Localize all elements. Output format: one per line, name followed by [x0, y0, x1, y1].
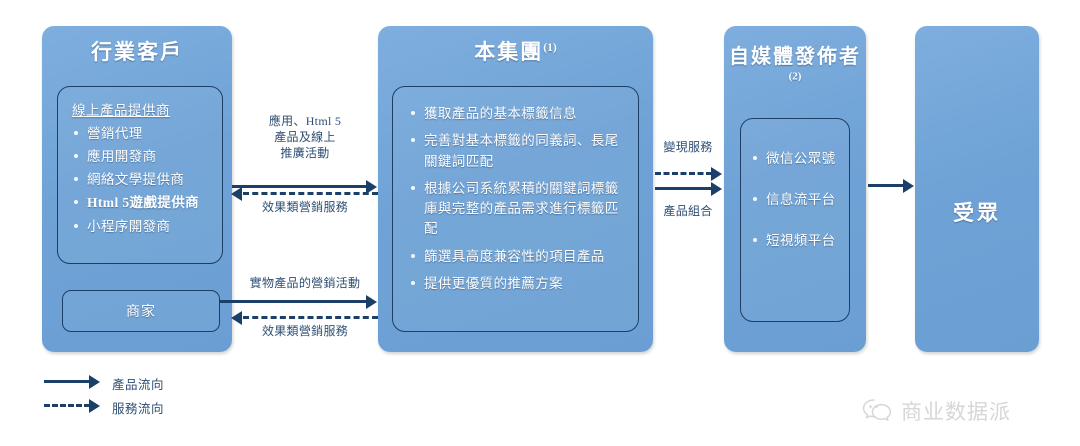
list-item: 根據公司系統累積的關鍵詞標籤庫與完整的產品需求進行標籤匹配: [407, 179, 626, 240]
column-title-footnote: (1): [543, 42, 556, 54]
connector-line-c3-top: [655, 172, 712, 175]
panel-lead-online-product-providers: 線上產品提供商: [72, 99, 212, 119]
list-item: 獲取產品的基本標籤信息: [407, 104, 626, 124]
wechat-icon: [862, 397, 894, 425]
legend-product-flow: 產品流向: [44, 374, 224, 392]
column-label-audience: 受眾: [915, 197, 1039, 227]
panel-online-product-providers: 線上產品提供商 營銷代理 應用開發商 網絡文學提供商 Html 5遊戲提供商 小…: [57, 86, 223, 264]
list-item: 網絡文學提供商: [70, 170, 212, 189]
arrowhead-right-c3-bottom: [711, 182, 722, 196]
list-item: 微信公眾號: [749, 149, 843, 168]
legend-arrowhead-solid: [89, 375, 100, 389]
arrowhead-right-c2-top: [366, 295, 377, 309]
arrowhead-right-c4: [903, 179, 914, 193]
column-title-industry-clients: 行業客戶: [42, 40, 232, 65]
legend-label-product-flow: 產品流向: [112, 374, 164, 393]
column-title-text: 本集團: [474, 40, 543, 64]
list-item: 信息流平台: [749, 190, 843, 209]
column-title-text: 自媒體發佈者: [729, 46, 861, 68]
connector-label-c1-top: 應用、Html 5 產品及線上 推廣活動: [241, 113, 369, 162]
list-item: 提供更優質的推薦方案: [407, 274, 626, 294]
panel-merchants: 商家: [62, 290, 220, 332]
list-item: 營銷代理: [70, 124, 212, 143]
connector-line-c1-top: [232, 185, 367, 188]
list-item: 篩選具高度兼容性的項目產品: [407, 247, 626, 267]
watermark: 商业数据派: [862, 396, 1011, 426]
connector-label-c2-bottom: 效果類營銷服務: [238, 323, 372, 339]
column-audience: 受眾: [915, 26, 1039, 352]
column-title-footnote: (2): [789, 70, 802, 82]
list-item: 完善對基本標籤的同義詞、長尾關鍵詞匹配: [407, 131, 626, 172]
list-item: 應用開發商: [70, 147, 212, 166]
legend-line-dashed: [44, 404, 90, 407]
panel-our-group-capabilities: 獲取產品的基本標籤信息 完善對基本標籤的同義詞、長尾關鍵詞匹配 根據公司系統累積…: [392, 86, 639, 332]
list-item: 小程序開發商: [70, 217, 212, 236]
arrowhead-right-c3-top: [711, 167, 722, 181]
connector-line-c4: [868, 184, 905, 187]
connector-line-c1-bottom: [243, 192, 378, 195]
column-title-self-media-publishers: 自媒體發佈者(2): [724, 46, 866, 93]
list-our-group-capabilities: 獲取產品的基本標籤信息 完善對基本標籤的同義詞、長尾關鍵詞匹配 根據公司系統累積…: [407, 104, 626, 294]
watermark-text: 商业数据派: [901, 396, 1011, 426]
connector-line-c2-top: [220, 300, 367, 303]
list-item: 短視頻平台: [749, 231, 843, 250]
legend-label-service-flow: 服務流向: [112, 398, 164, 417]
connector-label-c1-bottom: 效果類營銷服務: [241, 199, 369, 215]
column-title-our-group: 本集團(1): [378, 40, 653, 65]
legend-line-solid: [44, 380, 90, 383]
connector-label-c2-top: 實物產品的營銷活動: [238, 275, 372, 291]
list-publisher-channels: 微信公眾號 信息流平台 短視頻平台: [749, 149, 843, 250]
panel-publisher-channels: 微信公眾號 信息流平台 短視頻平台: [740, 118, 850, 322]
connector-line-c3-bottom: [655, 187, 712, 190]
legend-arrowhead-dashed: [89, 399, 100, 413]
legend-service-flow: 服務流向: [44, 398, 224, 416]
list-online-product-providers: 營銷代理 應用開發商 網絡文學提供商 Html 5遊戲提供商 小程序開發商: [70, 124, 212, 236]
connector-line-c2-bottom: [243, 316, 378, 319]
diagram-canvas: 行業客戶 線上產品提供商 營銷代理 應用開發商 網絡文學提供商 Html 5遊戲…: [0, 0, 1080, 446]
connector-label-c3-top: 變現服務: [651, 139, 725, 155]
panel-label-merchants: 商家: [126, 301, 156, 321]
list-item: Html 5遊戲提供商: [70, 193, 212, 212]
connector-label-c3-bottom: 產品組合: [651, 203, 725, 219]
